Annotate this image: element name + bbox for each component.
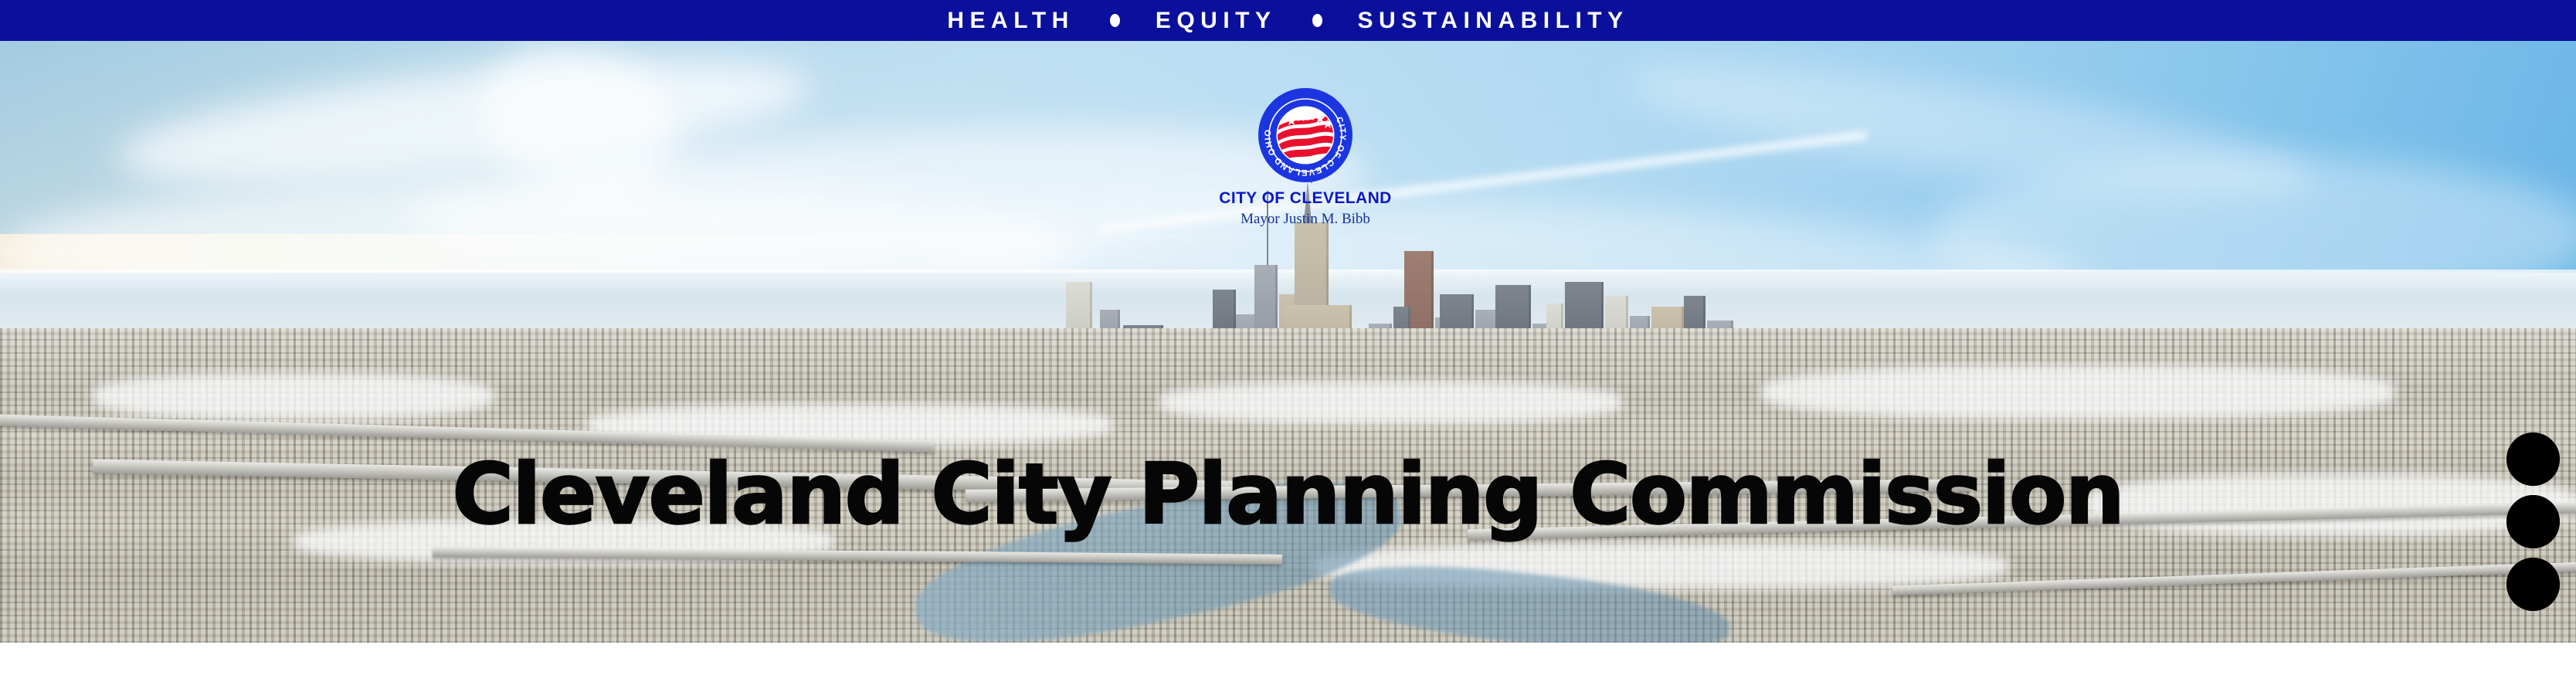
tagline-row: HEALTH EQUITY SUSTAINABILITY — [947, 9, 1628, 32]
instagram-icon[interactable] — [2506, 495, 2560, 548]
snow-field — [1761, 365, 2394, 419]
city-wordmark: CITY OF CLEVELAND — [1205, 190, 1406, 206]
mayor-name: Mayor Justin M. Bibb — [1205, 212, 1406, 226]
page-root: HEALTH EQUITY SUSTAINABILITY — [0, 0, 2576, 682]
tagline-separator-dot-icon — [1110, 14, 1120, 27]
page-title: Cleveland City Planning Commission — [0, 453, 2576, 537]
city-branding-block: CITY OF CLEVELAND OHIO CITY OF CLEVELAND… — [1205, 88, 1406, 226]
social-media-rail — [2505, 433, 2561, 611]
bottom-white-strip — [0, 643, 2576, 682]
facebook-icon[interactable] — [2506, 558, 2560, 611]
youtube-icon[interactable] — [2506, 433, 2560, 486]
tagline-separator-dot-icon — [1312, 14, 1322, 27]
tagline-word-sustainability: SUSTAINABILITY — [1358, 9, 1629, 32]
snow-field — [1159, 381, 1622, 424]
snow-field — [93, 373, 494, 419]
tagline-banner: HEALTH EQUITY SUSTAINABILITY — [0, 0, 2576, 41]
tagline-word-equity: EQUITY — [1156, 9, 1277, 32]
city-of-cleveland-seal-icon: CITY OF CLEVELAND OHIO — [1258, 88, 1352, 182]
tagline-word-health: HEALTH — [947, 9, 1074, 32]
